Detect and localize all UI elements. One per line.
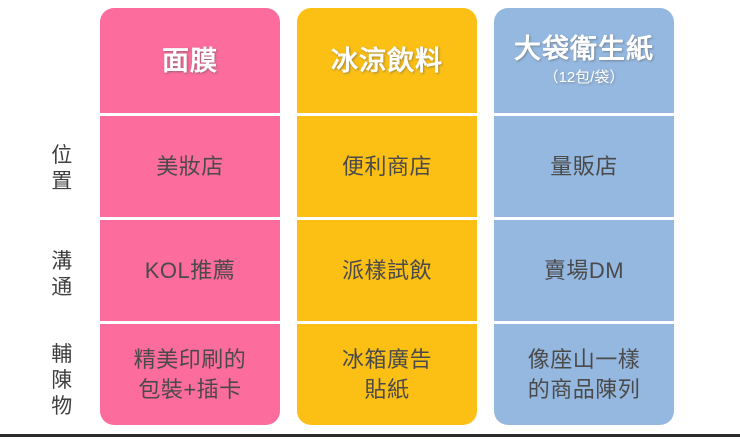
row-label-char: 物 [51, 394, 73, 420]
cell-bulk-tissue-communication: 賣場DM [494, 217, 674, 321]
column-header-title: 冰涼飲料 [331, 44, 443, 78]
row-label-char: 通 [51, 275, 73, 301]
cell-line: 便利商店 [342, 152, 432, 182]
cell-line: 賣場DM [544, 256, 624, 286]
column-header-title: 大袋衛生紙 [514, 32, 654, 66]
cell-line: KOL推薦 [145, 256, 236, 286]
column-header-title: 面膜 [162, 44, 218, 78]
column-header-subtitle: （12包/袋） [544, 67, 625, 89]
cell-line: 精美印刷的 [134, 345, 247, 375]
row-label-char: 輔 [51, 342, 73, 368]
row-label-location: 位 置 [30, 116, 94, 222]
cell-line: 派樣試飲 [342, 256, 432, 286]
cell-cold-drink-location: 便利商店 [297, 113, 477, 217]
row-label-char: 陳 [51, 368, 73, 394]
row-label-char: 溝 [51, 249, 73, 275]
row-label-char: 置 [51, 169, 73, 195]
cell-face-mask-merchandising: 精美印刷的 包裝+插卡 [100, 321, 280, 425]
column-face-mask: 面膜 美妝店 KOL推薦 精美印刷的 包裝+插卡 [100, 8, 280, 425]
row-label-communication: 溝 通 [30, 222, 94, 328]
bottom-divider [0, 434, 740, 437]
cell-face-mask-communication: KOL推薦 [100, 217, 280, 321]
cell-line: 包裝+插卡 [138, 375, 241, 405]
column-cold-drink: 冰涼飲料 便利商店 派樣試飲 冰箱廣告 貼紙 [297, 8, 477, 425]
column-header-face-mask: 面膜 [100, 8, 280, 113]
row-label-char: 位 [51, 143, 73, 169]
cell-line: 貼紙 [364, 375, 409, 405]
cell-line: 美妝店 [156, 152, 224, 182]
column-header-bulk-tissue: 大袋衛生紙 （12包/袋） [494, 8, 674, 113]
cell-bulk-tissue-merchandising: 像座山一樣 的商品陳列 [494, 321, 674, 425]
column-bulk-tissue: 大袋衛生紙 （12包/袋） 量販店 賣場DM 像座山一樣 的商品陳列 [494, 8, 674, 425]
row-label-merchandising: 輔 陳 物 [30, 328, 94, 433]
row-label-column: 位 置 溝 通 輔 陳 物 [30, 8, 94, 425]
cell-line: 的商品陳列 [528, 375, 641, 405]
cell-line: 像座山一樣 [528, 345, 641, 375]
comparison-matrix: 位 置 溝 通 輔 陳 物 面膜 美妝店 KOL推薦 精美印刷的 [0, 0, 740, 441]
cell-cold-drink-communication: 派樣試飲 [297, 217, 477, 321]
cell-face-mask-location: 美妝店 [100, 113, 280, 217]
cell-line: 冰箱廣告 [342, 345, 432, 375]
matrix-columns: 面膜 美妝店 KOL推薦 精美印刷的 包裝+插卡 冰涼飲料 便利商店 派樣試飲 [100, 8, 674, 425]
cell-bulk-tissue-location: 量販店 [494, 113, 674, 217]
column-header-cold-drink: 冰涼飲料 [297, 8, 477, 113]
cell-cold-drink-merchandising: 冰箱廣告 貼紙 [297, 321, 477, 425]
cell-line: 量販店 [550, 152, 618, 182]
